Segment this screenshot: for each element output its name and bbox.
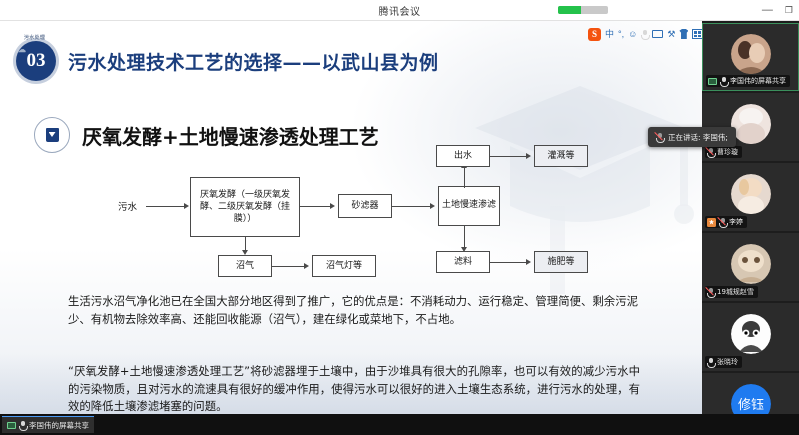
ime-toolbar[interactable]: S 中 °, ☺ ⚒ <box>588 26 702 42</box>
mic-muted-icon <box>719 218 726 227</box>
flow-box-anaerobic: 厌氧发酵（一级厌氧发酵、二级厌氧发酵（挂膜）） <box>190 177 300 237</box>
flow-box-effluent: 出水 <box>436 145 490 167</box>
flow-arrowhead-to-irrigation <box>526 153 531 159</box>
ime-emoji-icon[interactable]: ☺ <box>628 30 637 39</box>
participant-tile[interactable]: 19城规赵雪 <box>702 233 799 301</box>
svg-text:修钰: 修钰 <box>737 398 763 413</box>
ime-mode-chinese-icon[interactable]: 中 <box>605 30 614 39</box>
bin-icon <box>34 117 70 153</box>
participant-nametag: 19城规赵雪 <box>705 286 758 298</box>
speaking-toast: 正在讲话: 李国伟; <box>648 127 736 147</box>
slide-subtitle: 厌氧发酵+土地慢速渗透处理工艺 <box>82 121 379 150</box>
ime-panel-icon[interactable] <box>692 29 702 39</box>
body-paragraph-2: “厌氧发酵+土地慢速渗透处理工艺”将砂滤器埋于土壤中，由于沙堆具有很大的孔隙率，… <box>68 363 640 414</box>
avatar <box>731 244 771 284</box>
meeting-stage: ☁ 污水处理 03 污水处理技术工艺的选择——以武山县为例 厌氧发酵+土地慢速渗… <box>0 21 799 435</box>
participant-tile[interactable]: 张晓玲 <box>702 303 799 371</box>
flow-arrow-to-land <box>392 206 432 207</box>
restore-button[interactable]: ❐ <box>785 6 793 15</box>
participant-nametag: 李国伟的屏幕共享 <box>706 75 790 87</box>
mic-muted-icon <box>707 148 714 157</box>
participant-name: 李国伟的屏幕共享 <box>730 76 786 86</box>
flow-label-inlet: 污水 <box>118 199 137 213</box>
window-controls: — ❐ <box>762 0 793 21</box>
flow-arrow-to-effluent <box>464 166 465 188</box>
participant-name: 张晓玲 <box>717 357 738 367</box>
flow-box-filter-media: 滤料 <box>436 251 490 273</box>
participant-name: 李婷 <box>729 217 743 227</box>
participant-rail[interactable]: 李国伟的屏幕共享曹珍璇李婷19城规赵雪张晓玲修钰杨修钰W.Q <box>702 21 799 435</box>
mic-icon <box>19 421 26 430</box>
participant-nametag: 曹珍璇 <box>705 146 742 158</box>
avatar <box>731 174 771 214</box>
flow-arrowhead-to-fertilizing <box>526 259 531 265</box>
shared-screen-area[interactable]: ☁ 污水处理 03 污水处理技术工艺的选择——以武山县为例 厌氧发酵+土地慢速渗… <box>0 21 702 414</box>
flow-arrowhead-to-lamp <box>304 263 309 269</box>
ime-soft-keyboard-icon[interactable] <box>652 30 663 38</box>
flow-arrowhead-inlet <box>184 203 189 209</box>
avatar <box>731 34 771 74</box>
window-title: 腾讯会议 <box>0 3 799 18</box>
ime-voice-input-icon[interactable] <box>641 30 648 39</box>
mic-muted-icon <box>656 133 663 142</box>
section-number: 03 <box>27 50 46 72</box>
page-title: 污水处理技术工艺的选择——以武山县为例 <box>68 48 439 75</box>
taskbar-item-label: 李国伟的屏幕共享 <box>29 420 89 431</box>
flow-arrow-to-lamp <box>272 266 306 267</box>
flow-box-land-infiltration: 土地慢速渗滤 <box>438 186 500 226</box>
mic-icon <box>720 77 727 86</box>
participant-name: 19城规赵雪 <box>717 287 754 297</box>
speaking-toast-text: 正在讲话: 李国伟; <box>668 132 728 143</box>
section-number-badge: ☁ 污水处理 03 <box>16 41 56 81</box>
avatar <box>731 104 771 144</box>
ime-punctuation-icon[interactable]: °, <box>618 30 624 39</box>
flow-arrow-to-irrigation <box>490 156 528 157</box>
flow-box-irrigation: 灌溉等 <box>534 145 588 167</box>
process-flow-diagram: 污水 厌氧发酵（一级厌氧发酵、二级厌氧发酵（挂膜）） 砂滤器 土地慢速渗滤 出水 <box>118 161 678 291</box>
flow-box-biogas-lamp: 沼气灯等 <box>312 255 376 277</box>
body-paragraph-1: 生活污水沼气净化池已在全国大部分地区得到了推广，它的优点是：不消耗动力、运行稳定… <box>68 293 638 328</box>
screen-share-icon <box>7 422 16 429</box>
network-quality-meter <box>558 6 608 14</box>
minimize-button[interactable]: — <box>762 5 773 16</box>
ime-toolbox-icon[interactable]: ⚒ <box>667 30 675 39</box>
host-icon <box>707 218 716 227</box>
ime-skin-icon[interactable] <box>679 29 688 39</box>
slide-subheading: 厌氧发酵+土地慢速渗透处理工艺 <box>34 117 379 153</box>
badge-subtext: 污水处理 <box>24 34 45 41</box>
participant-tile[interactable]: 李婷 <box>702 163 799 231</box>
window-titlebar: 腾讯会议 — ❐ <box>0 0 799 21</box>
participant-name: 曹珍璇 <box>717 147 738 157</box>
screen-share-icon <box>708 78 717 85</box>
slide-heading: ☁ 污水处理 03 污水处理技术工艺的选择——以武山县为例 <box>16 41 439 81</box>
flow-box-biogas: 沼气 <box>218 255 272 277</box>
taskbar: 李国伟的屏幕共享 <box>0 414 799 435</box>
flow-arrowhead-to-sand <box>330 203 335 209</box>
meeting-window: 腾讯会议 — ❐ <box>0 0 799 435</box>
flow-box-sand-filter: 砂滤器 <box>338 194 392 218</box>
flow-box-fertilizing: 施肥等 <box>534 251 588 273</box>
flow-arrow-to-sand <box>300 206 332 207</box>
avatar <box>731 314 771 354</box>
mic-icon <box>707 358 714 367</box>
participant-nametag: 李婷 <box>705 216 747 228</box>
participant-nametag: 张晓玲 <box>705 356 742 368</box>
presentation-slide: ☁ 污水处理 03 污水处理技术工艺的选择——以武山县为例 厌氧发酵+土地慢速渗… <box>0 21 702 414</box>
taskbar-item-screenshare[interactable]: 李国伟的屏幕共享 <box>2 416 94 433</box>
participant-tile[interactable]: 李国伟的屏幕共享 <box>702 23 799 91</box>
cloud-icon: ☁ <box>18 45 26 54</box>
mic-muted-icon <box>707 288 714 297</box>
flow-arrowhead-to-land <box>430 203 435 209</box>
flow-arrow-inlet <box>146 206 186 207</box>
flow-arrow-to-fertilizing <box>490 262 528 263</box>
sogou-logo-icon[interactable]: S <box>588 28 601 41</box>
